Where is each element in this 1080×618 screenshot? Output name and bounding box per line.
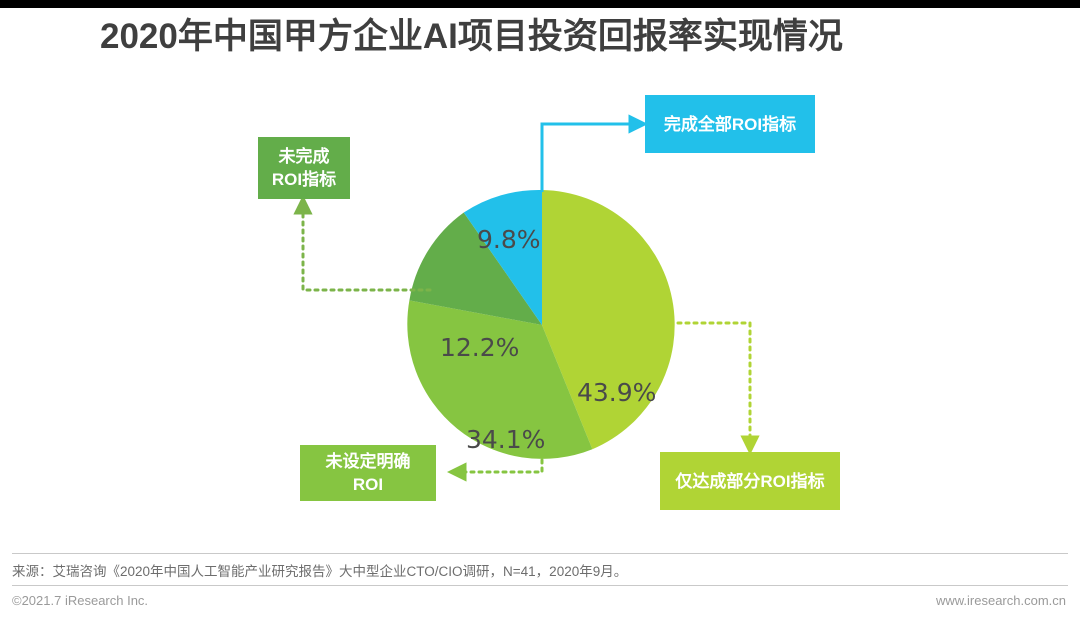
callout-no-clear-roi-line2: ROI — [353, 473, 383, 496]
top-black-bar — [0, 0, 1080, 8]
website-text: www.iresearch.com.cn — [936, 593, 1066, 608]
callout-incomplete-roi-line2: ROI指标 — [272, 168, 336, 191]
footer-divider — [12, 585, 1068, 586]
callout-no-clear-roi[interactable]: 未设定明确 ROI — [300, 445, 436, 501]
callout-incomplete-roi[interactable]: 未完成 ROI指标 — [258, 137, 350, 199]
connector-complete-all-roi — [542, 124, 645, 192]
copyright-text: ©2021.7 iResearch Inc. — [12, 593, 148, 608]
callout-complete-all-roi-label: 完成全部ROI指标 — [664, 113, 796, 136]
connector-no-clear-roi — [450, 460, 542, 472]
callout-partial-roi[interactable]: 仅达成部分ROI指标 — [660, 452, 840, 510]
page-title: 2020年中国甲方企业AI项目投资回报率实现情况 — [100, 14, 1000, 60]
callout-complete-all-roi[interactable]: 完成全部ROI指标 — [645, 95, 815, 153]
source-top-divider — [12, 553, 1068, 554]
callout-incomplete-roi-line1: 未完成 — [279, 145, 330, 168]
slide-page: 2020年中国甲方企业AI项目投资回报率实现情况 — [0, 0, 1080, 618]
pie-chart-stage: 43.9% 34.1% 12.2% 9.8% 完成全部ROI指标 未完成 ROI… — [0, 70, 1080, 540]
source-note: 来源：艾瑞咨询《2020年中国人工智能产业研究报告》大中型企业CTO/CIO调研… — [12, 560, 627, 580]
connector-partial-roi — [678, 323, 750, 452]
connector-incomplete-roi — [303, 198, 430, 290]
pie-chart-svg — [0, 70, 1080, 540]
callout-no-clear-roi-line1: 未设定明确 — [326, 450, 411, 473]
callout-partial-roi-label: 仅达成部分ROI指标 — [675, 470, 824, 493]
